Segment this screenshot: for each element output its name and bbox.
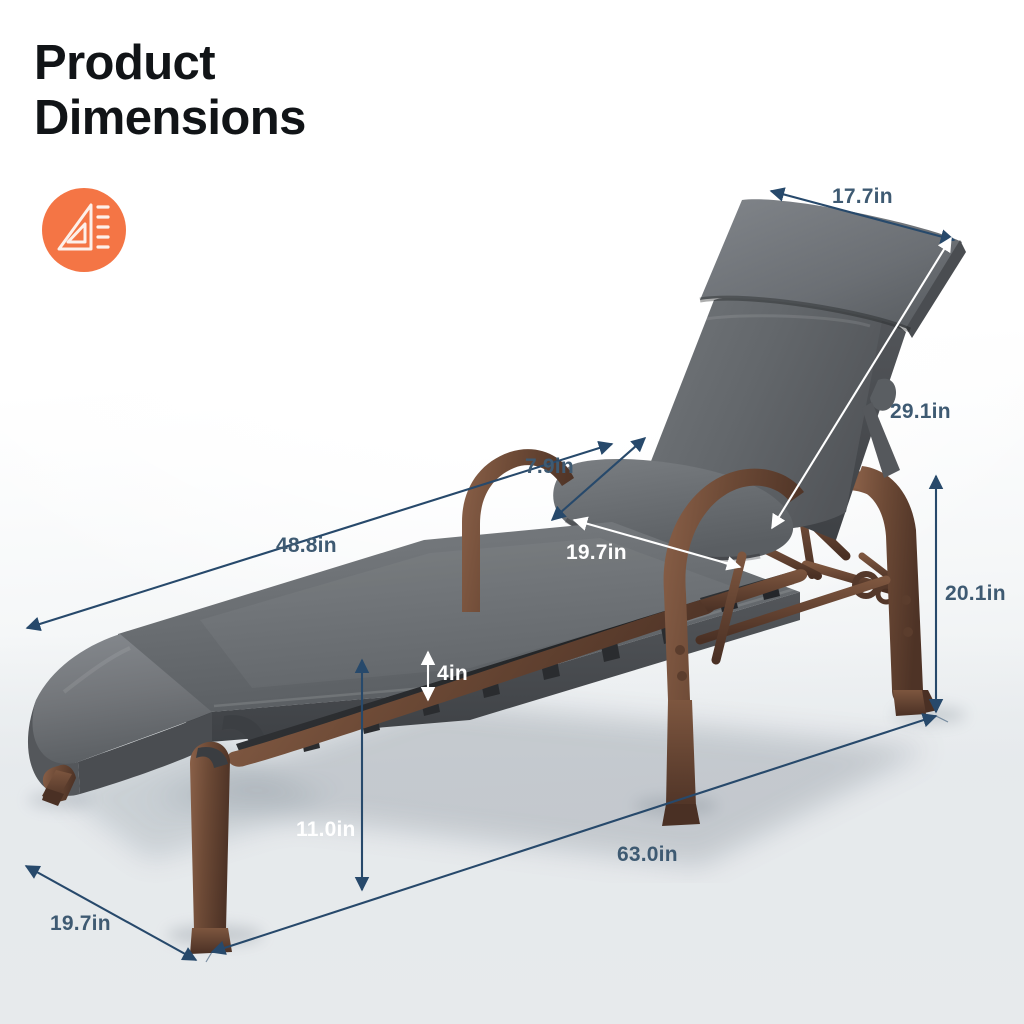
dim-label-seat-width: 19.7in — [566, 541, 627, 565]
dim-label-overall-length: 48.8in — [276, 534, 337, 558]
product-dimensions-image: Product Dimensions — [0, 0, 1024, 1024]
dim-label-total-width: 19.7in — [50, 912, 111, 936]
dim-label-seat-height: 11.0in — [296, 818, 356, 842]
dim-label-cushion-thickness: 4in — [437, 662, 468, 686]
dim-label-armrest-gap: 7.9in — [525, 455, 574, 479]
dim-label-total-length: 63.0in — [617, 843, 678, 867]
dim-line-backrest-diagonal — [772, 238, 951, 528]
dim-label-headrest-width: 17.7in — [832, 185, 893, 209]
dim-label-seat-back-height: 20.1in — [945, 582, 1006, 606]
dim-line-armrest-gap — [552, 438, 645, 520]
dimension-overlay — [0, 0, 1024, 1024]
dim-label-backrest-height: 29.1in — [890, 400, 951, 424]
